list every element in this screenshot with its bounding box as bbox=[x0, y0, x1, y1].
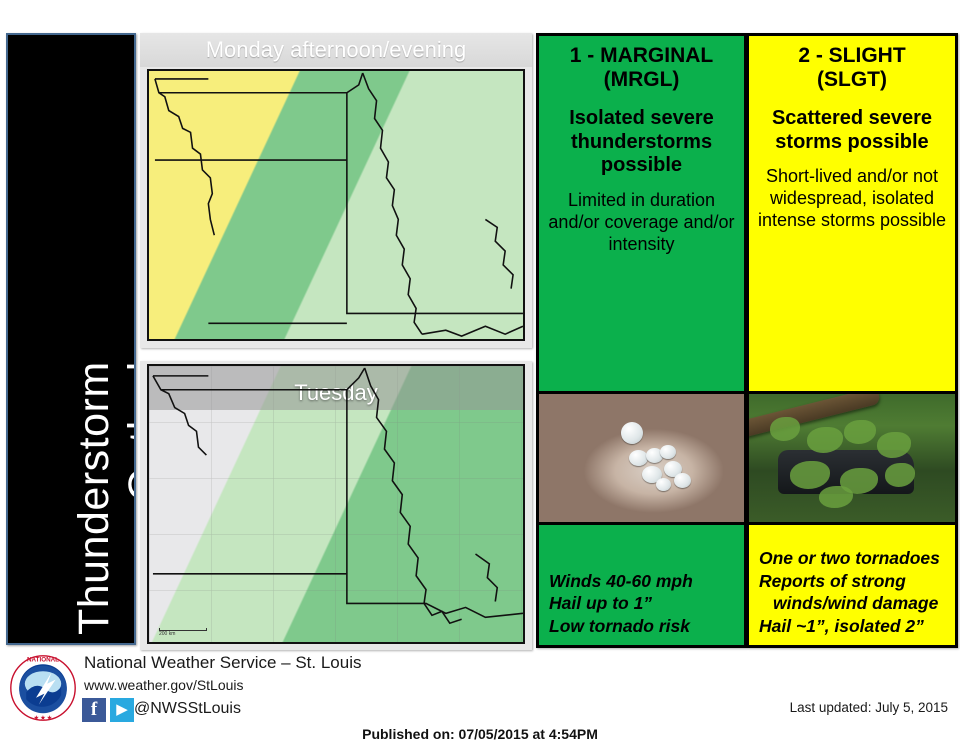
legend-bullet: Low tornado risk bbox=[549, 615, 738, 637]
thunderstorm-outlook-title-block: Thunderstorm Outlook bbox=[6, 33, 136, 645]
legend-subheading-slight: Scattered severe storms possible bbox=[749, 91, 955, 154]
footer-social-handle[interactable]: @NWSStLouis bbox=[134, 700, 241, 718]
legend-heading-marginal: 1 - MARGINAL (MRGL) bbox=[539, 36, 744, 91]
legend-bullet: Hail up to 1” bbox=[549, 592, 738, 614]
facebook-glyph: f bbox=[82, 698, 106, 722]
map-card-monday[interactable]: Monday afternoon/evening bbox=[140, 33, 532, 348]
map-scale-label: 200 km bbox=[159, 631, 207, 637]
legend-panel-slight[interactable]: 2 - SLIGHT (SLGT) Scattered severe storm… bbox=[747, 33, 958, 648]
footer: NATIONAL ★ ★ ★ National Weather Service … bbox=[0, 648, 960, 740]
footer-organization: National Weather Service – St. Louis bbox=[84, 653, 362, 673]
legend-bullet: Reports of strong winds/wind damage bbox=[759, 570, 949, 615]
twitter-glyph: ▶ bbox=[110, 698, 134, 722]
legend-bullet: One or two tornadoes bbox=[759, 547, 949, 569]
map-image-monday bbox=[147, 69, 525, 341]
legend-bullets-slight: One or two tornadoes Reports of strong w… bbox=[749, 539, 955, 645]
legend-description-marginal: Limited in duration and/or coverage and/… bbox=[539, 178, 744, 256]
map-scale-bar-tuesday: 200 km bbox=[159, 628, 207, 637]
title-line-thunderstorm: Thunderstorm bbox=[70, 361, 119, 635]
map-image-tuesday: Tuesday 200 km bbox=[147, 364, 525, 644]
state-boundaries-monday bbox=[149, 71, 523, 340]
svg-text:★ ★ ★: ★ ★ ★ bbox=[34, 715, 53, 722]
legend-heading-slight: 2 - SLIGHT (SLGT) bbox=[749, 36, 955, 91]
state-boundaries-tuesday bbox=[149, 366, 523, 643]
legend-subheading-marginal: Isolated severe thunderstorms possible bbox=[539, 91, 744, 178]
footer-last-updated: Last updated: July 5, 2015 bbox=[790, 700, 948, 715]
forecast-maps-column: Monday afternoon/evening bbox=[140, 33, 532, 650]
legend-panel-marginal[interactable]: 1 - MARGINAL (MRGL) Isolated severe thun… bbox=[536, 33, 747, 648]
title-line-outlook: Outlook bbox=[120, 349, 136, 501]
legend-bullet: Hail ~1”, isolated 2” bbox=[759, 615, 949, 637]
legend-description-slight: Short-lived and/or not widespread, isola… bbox=[749, 154, 955, 232]
footer-website-url[interactable]: www.weather.gov/StLouis bbox=[84, 677, 244, 693]
map-label-monday: Monday afternoon/evening bbox=[140, 37, 532, 63]
facebook-icon[interactable]: f bbox=[82, 698, 106, 722]
map-card-tuesday[interactable]: Tuesday 200 km bbox=[140, 361, 532, 650]
map-header-band-monday: Monday afternoon/evening bbox=[140, 33, 532, 67]
tree-on-car-photo bbox=[749, 391, 955, 525]
legend-bullet: Winds 40-60 mph bbox=[549, 570, 738, 592]
legend-bullets-marginal: Winds 40-60 mph Hail up to 1” Low tornad… bbox=[539, 562, 744, 645]
nws-logo-icon: NATIONAL ★ ★ ★ bbox=[8, 653, 78, 723]
twitter-icon[interactable]: ▶ bbox=[110, 698, 134, 722]
hail-in-hand-photo bbox=[539, 391, 744, 525]
svg-text:NATIONAL: NATIONAL bbox=[27, 656, 59, 663]
